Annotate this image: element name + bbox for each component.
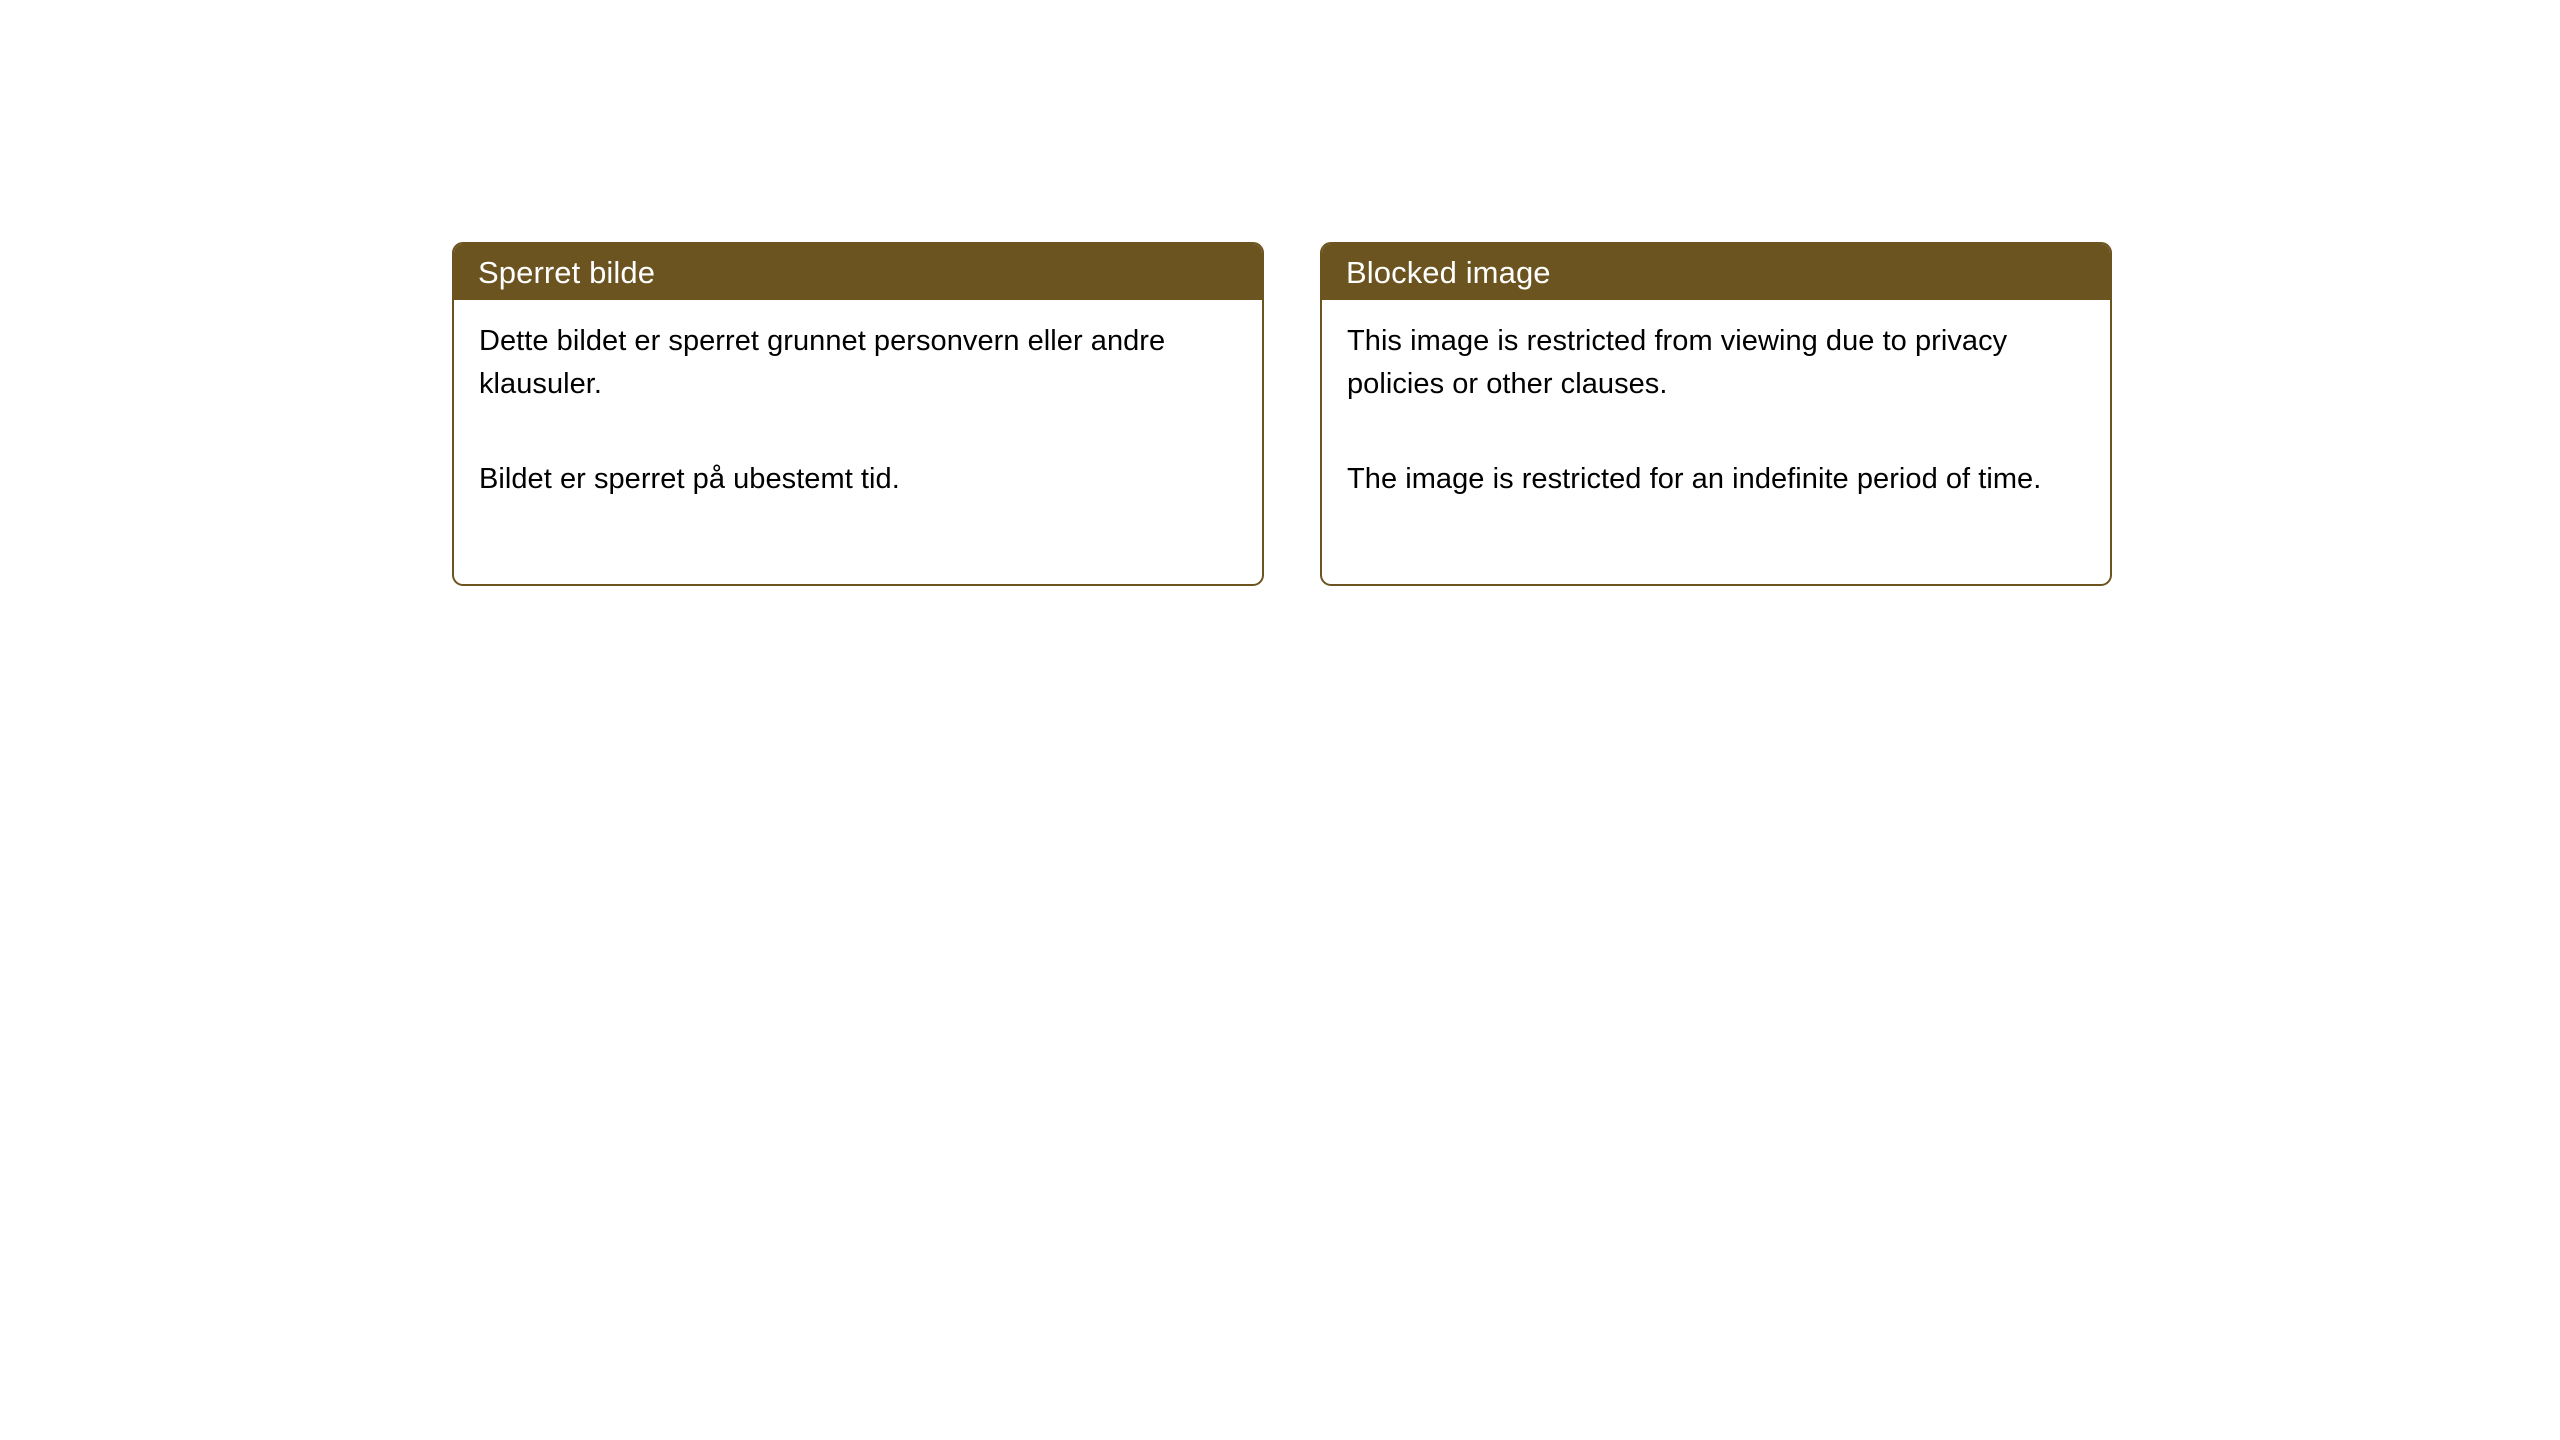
card-header-english: Blocked image	[1322, 244, 2110, 300]
card-title-english: Blocked image	[1346, 257, 1551, 288]
page-canvas: Sperret bilde Dette bildet er sperret gr…	[0, 0, 2560, 1440]
card-paragraph-reason-english: This image is restricted from viewing du…	[1347, 320, 2088, 406]
card-paragraph-duration-english: The image is restricted for an indefinit…	[1347, 458, 2088, 501]
card-paragraph-duration-norwegian: Bildet er sperret på ubestemt tid.	[479, 458, 1240, 501]
card-body-norwegian: Dette bildet er sperret grunnet personve…	[454, 300, 1262, 501]
blocked-image-card-norwegian: Sperret bilde Dette bildet er sperret gr…	[452, 242, 1264, 586]
blocked-image-card-english: Blocked image This image is restricted f…	[1320, 242, 2112, 586]
card-body-english: This image is restricted from viewing du…	[1322, 300, 2110, 501]
card-paragraph-reason-norwegian: Dette bildet er sperret grunnet personve…	[479, 320, 1240, 406]
card-header-norwegian: Sperret bilde	[454, 244, 1262, 300]
card-title-norwegian: Sperret bilde	[478, 257, 655, 288]
